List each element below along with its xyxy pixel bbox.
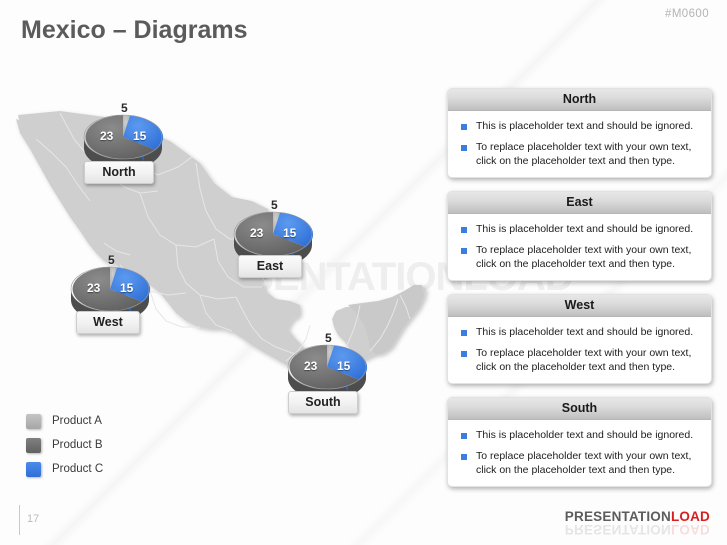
bullet-text: This is placeholder text and should be i…: [476, 325, 693, 339]
bullet-square-icon: [461, 454, 467, 460]
bullet-item[interactable]: This is placeholder text and should be i…: [458, 428, 699, 442]
info-box-east[interactable]: East This is placeholder text and should…: [447, 191, 712, 281]
legend: Product A Product B Product C: [26, 409, 103, 481]
legend-swatch-product-b: [26, 438, 41, 453]
brand-reflection-part-2: LOAD: [671, 522, 710, 537]
region-label-east[interactable]: East: [238, 255, 302, 278]
info-box-title: East: [448, 192, 711, 214]
legend-label-product-b: Product B: [52, 439, 103, 451]
info-box-body: This is placeholder text and should be i…: [448, 317, 711, 383]
mexico-map: [0, 105, 440, 405]
document-code: #M0600: [665, 8, 709, 20]
info-box-title: North: [448, 89, 711, 111]
bullet-text: To replace placeholder text with your ow…: [476, 243, 699, 271]
legend-swatch-product-a: [26, 414, 41, 429]
legend-label-product-a: Product A: [52, 415, 102, 427]
bullet-square-icon: [461, 145, 467, 151]
bullet-square-icon: [461, 124, 467, 130]
info-box-west[interactable]: West This is placeholder text and should…: [447, 294, 712, 384]
bullet-item[interactable]: This is placeholder text and should be i…: [458, 222, 699, 236]
bullet-text: This is placeholder text and should be i…: [476, 119, 693, 133]
legend-item-product-a[interactable]: Product A: [26, 409, 103, 433]
bullet-text: To replace placeholder text with your ow…: [476, 346, 699, 374]
bullet-item[interactable]: This is placeholder text and should be i…: [458, 325, 699, 339]
bullet-item[interactable]: This is placeholder text and should be i…: [458, 119, 699, 133]
info-box-north[interactable]: North This is placeholder text and shoul…: [447, 88, 712, 178]
bullet-square-icon: [461, 433, 467, 439]
bullet-item[interactable]: To replace placeholder text with your ow…: [458, 449, 699, 477]
legend-label-product-c: Product C: [52, 463, 103, 475]
bullet-square-icon: [461, 330, 467, 336]
bullet-item[interactable]: To replace placeholder text with your ow…: [458, 140, 699, 168]
legend-swatch-product-c: [26, 462, 41, 477]
bullet-text: This is placeholder text and should be i…: [476, 222, 693, 236]
bullet-text: To replace placeholder text with your ow…: [476, 140, 699, 168]
info-box-body: This is placeholder text and should be i…: [448, 420, 711, 486]
page-title: Mexico – Diagrams: [21, 16, 248, 45]
page-number: 17: [27, 513, 39, 525]
legend-item-product-b[interactable]: Product B: [26, 433, 103, 457]
region-label-north[interactable]: North: [84, 161, 154, 184]
info-box-south[interactable]: South This is placeholder text and shoul…: [447, 397, 712, 487]
bullet-text: This is placeholder text and should be i…: [476, 428, 693, 442]
bullet-text: To replace placeholder text with your ow…: [476, 449, 699, 477]
page-number-rule: [19, 505, 20, 535]
legend-item-product-c[interactable]: Product C: [26, 457, 103, 481]
info-box-body: This is placeholder text and should be i…: [448, 214, 711, 280]
bullet-item[interactable]: To replace placeholder text with your ow…: [458, 243, 699, 271]
bullet-item[interactable]: To replace placeholder text with your ow…: [458, 346, 699, 374]
bullet-square-icon: [461, 248, 467, 254]
region-label-south[interactable]: South: [288, 391, 358, 414]
brand-reflection-part-1: PRESENTATION: [565, 522, 671, 537]
bullet-square-icon: [461, 351, 467, 357]
info-box-title: West: [448, 295, 711, 317]
brand-logo-reflection: PRESENTATIONLOAD: [565, 522, 710, 537]
info-box-body: This is placeholder text and should be i…: [448, 111, 711, 177]
bullet-square-icon: [461, 227, 467, 233]
info-box-title: South: [448, 398, 711, 420]
map-landmass: [16, 111, 426, 375]
region-label-west[interactable]: West: [76, 311, 140, 334]
